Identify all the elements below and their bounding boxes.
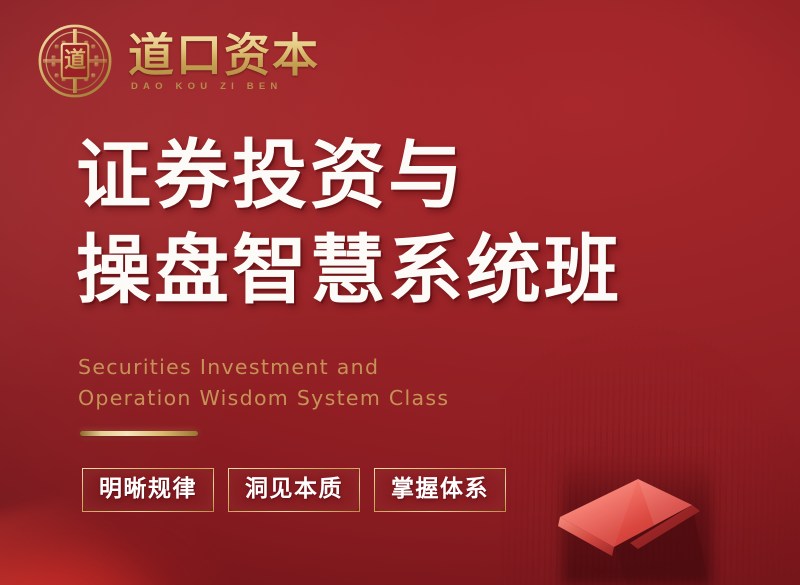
subtitle-english: Securities Investment and Operation Wisd…: [78, 352, 449, 414]
gold-divider: [80, 431, 198, 436]
poster-canvas: 道 道口资本 DAO KOU ZI BEN 证券投资与 操盘智慧系统班 Secu…: [0, 0, 800, 585]
subtitle-line-2: Operation Wisdom System Class: [78, 383, 449, 414]
brand-name-cn: 道口资本: [128, 32, 320, 79]
page-title: 证券投资与 操盘智慧系统班: [76, 138, 622, 308]
brand-name-pinyin: DAO KOU ZI BEN: [128, 81, 320, 92]
headline-line-2: 操盘智慧系统班: [76, 233, 622, 308]
feature-tag-list: 明晰规律 洞见本质 掌握体系: [82, 468, 506, 512]
brand-logo[interactable]: 道 道口资本 DAO KOU ZI BEN: [36, 22, 320, 100]
brand-wordmark: 道口资本 DAO KOU ZI BEN: [128, 30, 320, 92]
circular-coin-dao-emblem-icon: 道: [36, 22, 114, 100]
floating-card-plate-shape-icon: [542, 439, 772, 585]
feature-tag-1[interactable]: 明晰规律: [82, 468, 214, 512]
emblem-center-character: 道: [64, 47, 86, 73]
feature-tag-2[interactable]: 洞见本质: [228, 468, 360, 512]
headline-line-1: 证券投资与: [76, 138, 622, 213]
subtitle-line-1: Securities Investment and: [78, 352, 449, 383]
feature-tag-3[interactable]: 掌握体系: [374, 468, 506, 512]
